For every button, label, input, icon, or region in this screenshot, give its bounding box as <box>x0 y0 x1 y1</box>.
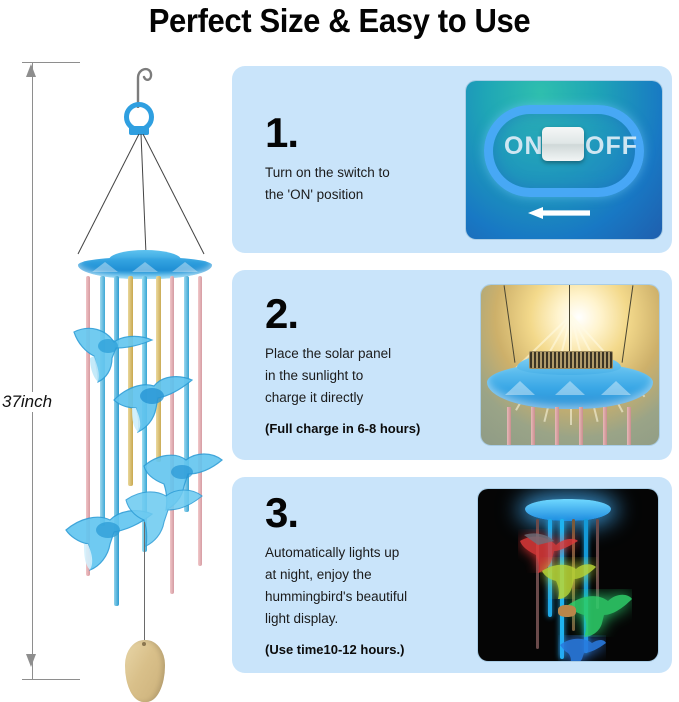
step-body-3: Automatically lights up at night, enjoy … <box>265 542 456 629</box>
step-note-3: (Use time10-12 hours.) <box>265 642 456 657</box>
dimension-line <box>32 62 33 680</box>
solar-panel-icon <box>529 351 613 369</box>
sail-hole-icon <box>142 642 146 646</box>
solar-panel-sunlight-photo <box>480 284 660 446</box>
step-card-3: 3. Automatically lights up at night, enj… <box>232 477 672 673</box>
product-illustration: 37inch <box>0 52 228 683</box>
switch-photo: ON OFF <box>465 80 663 240</box>
step-note-2: (Full charge in 6-8 hours) <box>265 421 456 436</box>
wood-wind-catcher-icon <box>125 640 165 702</box>
page-title: Perfect Size & Easy to Use <box>20 2 658 40</box>
wind-chime-product <box>62 52 228 683</box>
hummingbird-ornament-blue <box>558 635 606 662</box>
instruction-steps: 1. Turn on the switch to the 'ON' positi… <box>232 66 672 673</box>
wood-wind-catcher-icon <box>558 605 576 617</box>
left-arrow-icon <box>528 207 590 219</box>
glowing-solar-dome-icon <box>525 499 611 521</box>
step-number-1: 1. <box>265 113 456 153</box>
step-card-2: 2. Place the solar panel in the sunlight… <box>232 270 672 460</box>
step-number-2: 2. <box>265 294 456 334</box>
step-card-1: 1. Turn on the switch to the 'ON' positi… <box>232 66 672 253</box>
sail-string <box>144 522 145 642</box>
step-body-2: Place the solar panel in the sunlight to… <box>265 343 456 409</box>
switch-on-label: ON <box>504 132 544 161</box>
hummingbird-ornament <box>120 482 204 546</box>
dimension-arrow-up-icon <box>26 64 36 77</box>
step-body-1: Turn on the switch to the 'ON' position <box>265 162 456 206</box>
product-infographic: Perfect Size & Easy to Use 37inch <box>0 0 679 683</box>
hanging-strings-icon <box>70 134 220 256</box>
switch-off-label: OFF <box>585 132 638 161</box>
night-glow-photo <box>477 488 659 662</box>
step-number-3: 3. <box>265 493 456 533</box>
switch-knob <box>542 127 584 161</box>
hummingbird-ornament <box>110 370 196 436</box>
dimension-arrow-down-icon <box>26 654 36 667</box>
